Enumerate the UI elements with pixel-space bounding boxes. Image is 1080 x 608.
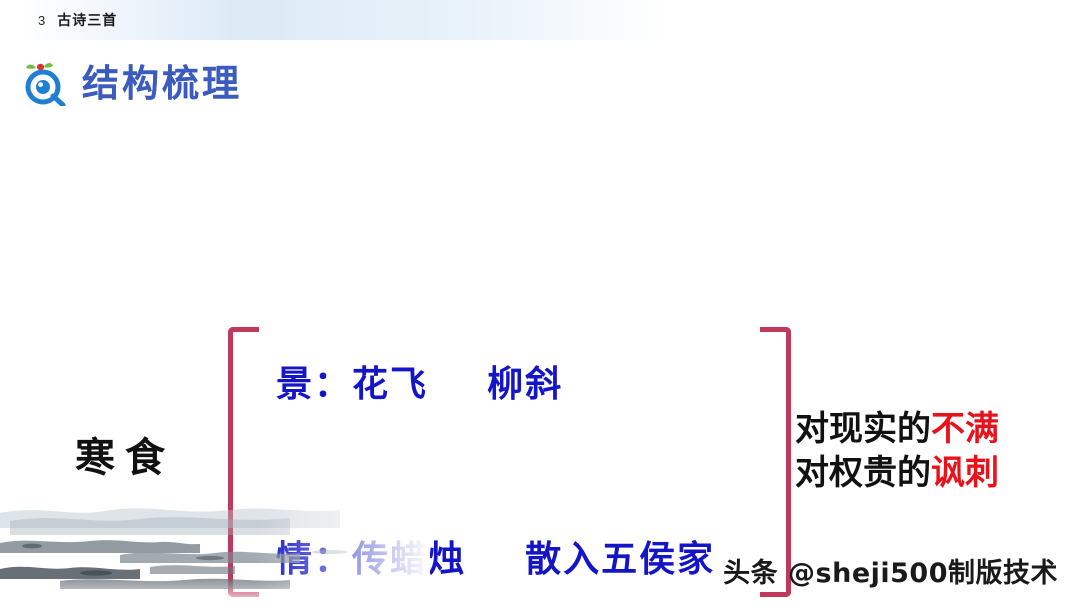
section-heading: 结构梳理 [22,60,242,106]
section-title: 结构梳理 [82,65,242,102]
conclusion-line-2: 对权贵的讽刺 [795,452,999,496]
slide-header-bar: 3 古诗三首 [0,0,1080,40]
conclusion-1-plain: 对现实的 [795,409,931,449]
diagram-lead-term: 寒食 [75,425,175,483]
diagram-conclusion: 对现实的不满 对权贵的讽刺 [795,408,999,495]
structure-diagram: 寒食 景：花飞 柳斜 情：传蜡烛 散入五侯家 对现实的不满 对权贵的讽刺 [0,150,1080,450]
lesson-number: 3 [38,13,45,28]
branch-scene-label: 景：花飞 [276,364,428,405]
ink-landscape-painting [0,483,430,608]
diagram-branch-scene: 景：花飞 柳斜 [276,355,563,407]
lesson-title: 古诗三首 [57,10,117,30]
conclusion-2-accent: 讽刺 [931,453,999,493]
conclusion-2-plain: 对权贵的 [795,453,931,493]
branch-scene-label2: 柳斜 [487,364,563,405]
watermark-text: 头条 @sheji500制版技术 [723,551,1058,590]
lesson-label: 3 古诗三首 [38,10,117,30]
conclusion-line-1: 对现实的不满 [795,408,999,452]
conclusion-1-accent: 不满 [931,409,999,449]
mascot-q-icon [22,60,68,106]
branch-feeling-label2: 散入五侯家 [525,539,715,580]
